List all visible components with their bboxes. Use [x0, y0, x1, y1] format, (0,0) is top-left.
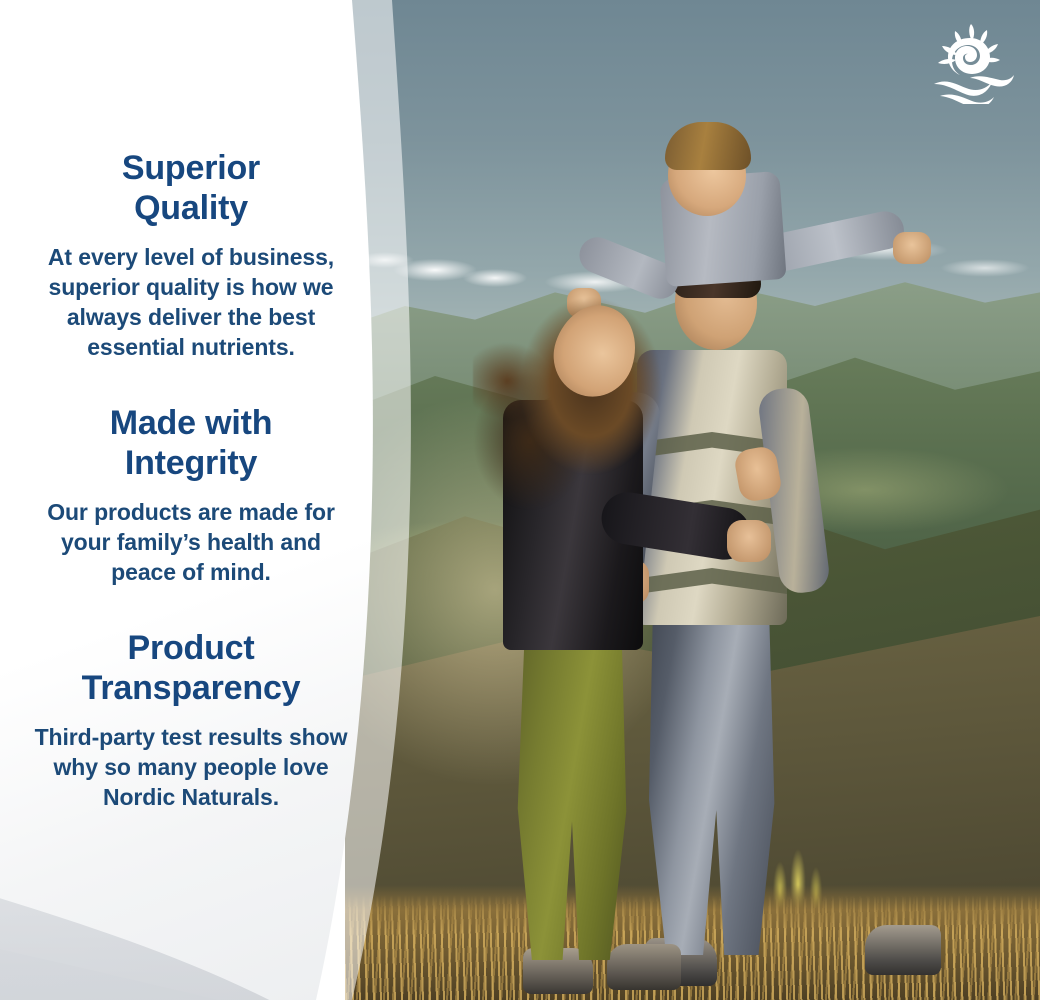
- value-body-quality: At every level of business, superior qua…: [26, 242, 356, 362]
- heading-line-2: Integrity: [125, 444, 257, 482]
- value-heading-integrity: Made with Integrity: [26, 403, 356, 483]
- heading-line-1: Made with: [110, 404, 273, 442]
- value-propositions: Superior Quality At every level of busin…: [0, 0, 382, 1000]
- heading-line-1: Product: [127, 629, 254, 667]
- heading-line-2: Quality: [134, 189, 248, 227]
- value-heading-transparency: Product Transparency: [26, 628, 356, 708]
- child-right-hand: [893, 232, 931, 264]
- value-body-transparency: Third-party test results show why so man…: [26, 722, 356, 812]
- man-right-shoe: [865, 925, 941, 975]
- woman-hand: [727, 520, 771, 562]
- value-block-integrity: Made with Integrity Our products are mad…: [26, 403, 356, 587]
- nordic-naturals-logo: [930, 22, 1018, 104]
- family-mountain-photo: [345, 0, 1040, 1000]
- promo-graphic: Superior Quality At every level of busin…: [0, 0, 1040, 1000]
- woman-right-shoe: [607, 944, 681, 990]
- sun-wave-logo-icon: [934, 24, 1014, 104]
- value-heading-quality: Superior Quality: [26, 148, 356, 228]
- value-body-integrity: Our products are made for your family’s …: [26, 497, 356, 587]
- heading-line-1: Superior: [122, 149, 260, 187]
- heading-line-2: Transparency: [82, 669, 301, 707]
- value-block-transparency: Product Transparency Third-party test re…: [26, 628, 356, 812]
- value-block-quality: Superior Quality At every level of busin…: [26, 148, 356, 362]
